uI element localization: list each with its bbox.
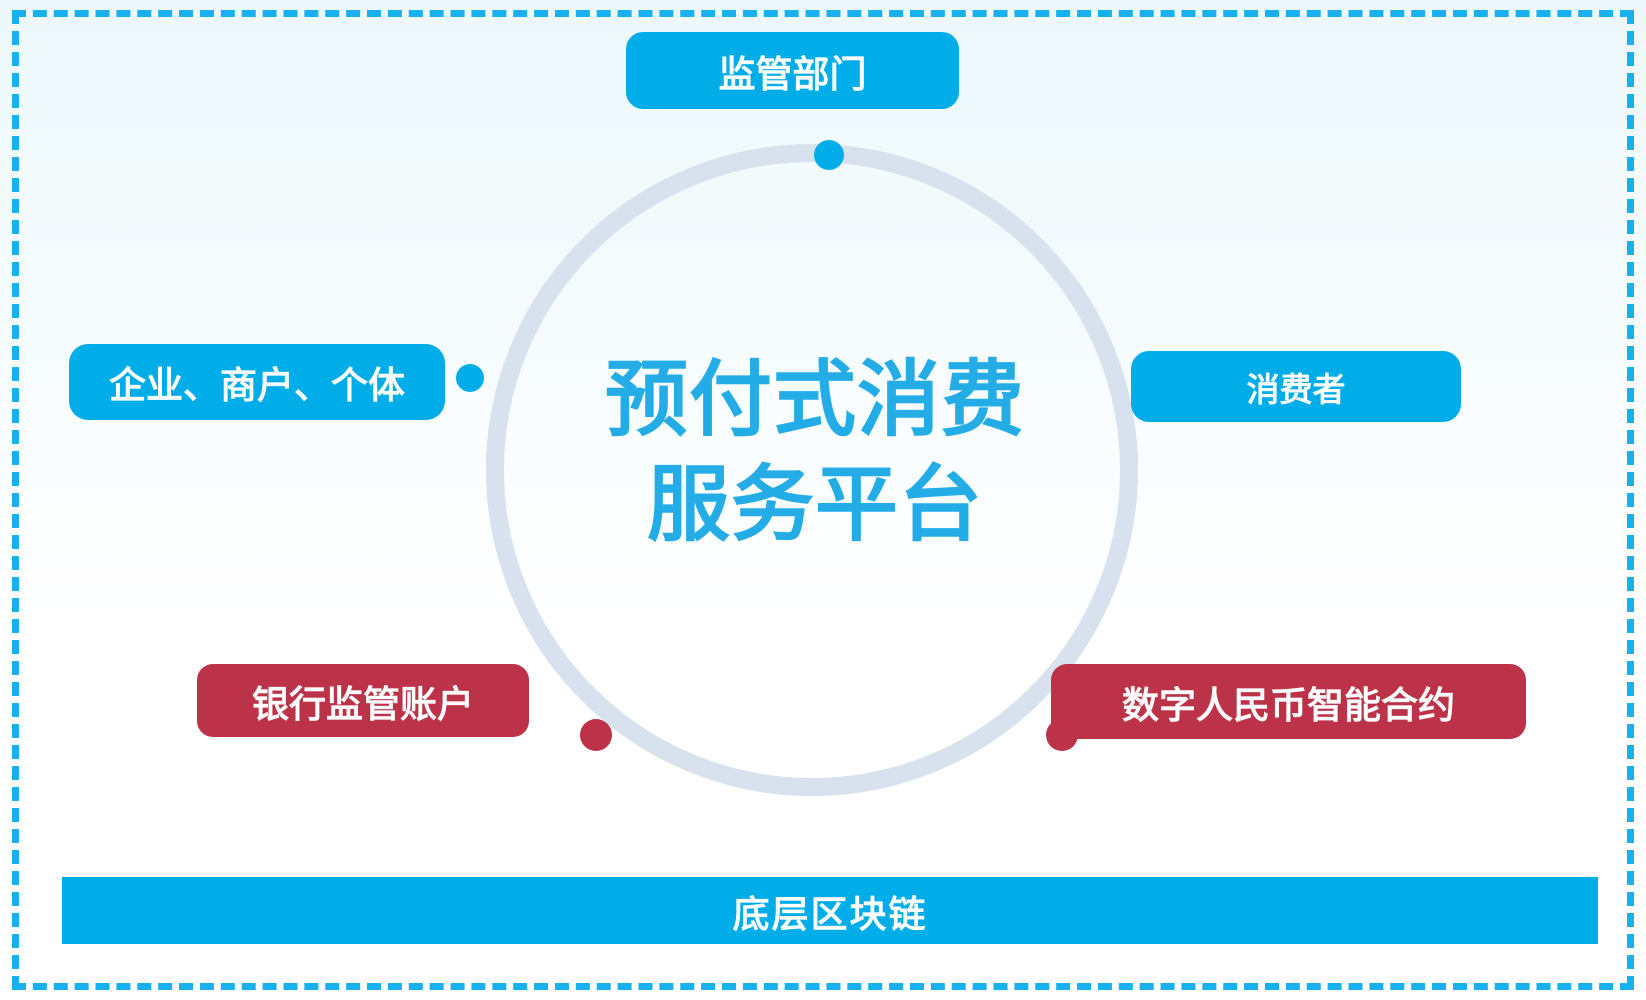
- node-enterprise[interactable]: 企业、商户、个体: [69, 344, 445, 420]
- node-regulator-label: 监管部门: [719, 44, 867, 98]
- node-dot-bank-account: [580, 719, 612, 751]
- node-dot-enterprise: [456, 364, 484, 392]
- node-consumer[interactable]: 消费者: [1131, 351, 1461, 422]
- center-platform-label: 预付式消费 服务平台: [585, 348, 1045, 557]
- node-smart-contract[interactable]: 数字人民币智能合约: [1051, 664, 1526, 739]
- node-bank-account-label: 银行监管账户: [252, 674, 474, 728]
- foundation-bar[interactable]: 底层区块链: [62, 877, 1598, 944]
- foundation-bar-label: 底层区块链: [733, 884, 928, 938]
- node-regulator[interactable]: 监管部门: [626, 32, 959, 109]
- diagram-canvas: 预付式消费 服务平台 监管部门 企业、商户、个体 消费者 银行监管账户 数字人民…: [0, 0, 1646, 1000]
- node-bank-account[interactable]: 银行监管账户: [197, 664, 529, 737]
- node-consumer-label: 消费者: [1247, 363, 1346, 411]
- node-enterprise-label: 企业、商户、个体: [109, 355, 405, 409]
- node-dot-regulator: [814, 140, 844, 170]
- center-label-line-2: 服务平台: [585, 453, 1045, 558]
- center-label-line-1: 预付式消费: [585, 348, 1045, 453]
- node-smart-contract-label: 数字人民币智能合约: [1122, 675, 1455, 729]
